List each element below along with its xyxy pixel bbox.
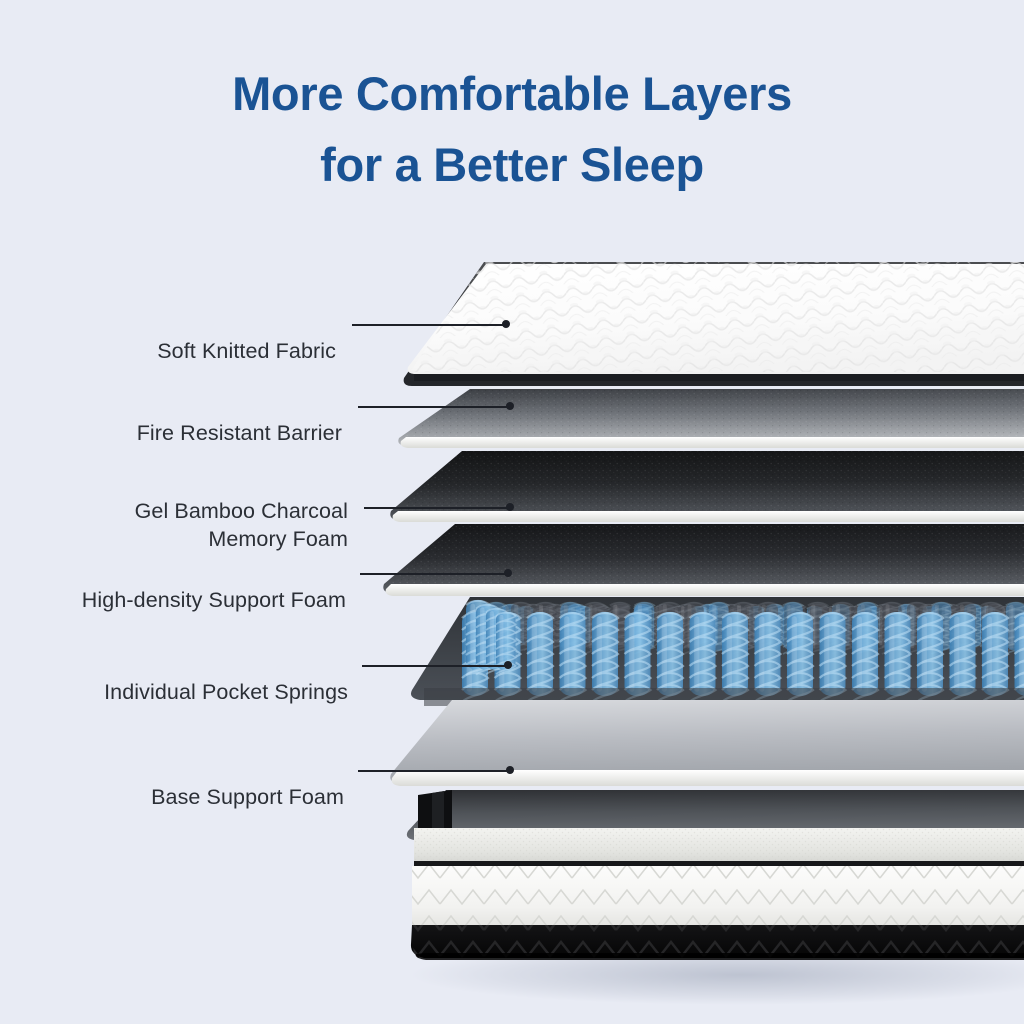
leader-dot-individual-pocket-springs bbox=[504, 661, 512, 669]
label-text-gel-bamboo-charcoal-memory-foam: Gel Bamboo Charcoal Memory Foam bbox=[0, 498, 348, 554]
label-text-high-density-support-foam: High-density Support Foam bbox=[0, 587, 346, 615]
mattress-body bbox=[407, 790, 1024, 962]
layer-soft-knitted-fabric bbox=[390, 258, 1024, 386]
label-text-soft-knitted-fabric: Soft Knitted Fabric bbox=[0, 338, 336, 366]
layer-individual-pocket-springs bbox=[411, 597, 1024, 706]
leader-line-high-density-support-foam bbox=[360, 573, 508, 575]
leader-line-base-support-foam bbox=[358, 770, 510, 772]
leader-line-individual-pocket-springs bbox=[362, 665, 508, 667]
leader-dot-soft-knitted-fabric bbox=[502, 320, 510, 328]
label-text-fire-resistant-barrier: Fire Resistant Barrier bbox=[0, 420, 342, 448]
layer-base-support-foam bbox=[390, 700, 1024, 786]
page-title: More Comfortable Layers for a Better Sle… bbox=[0, 58, 1024, 201]
layer-fire-resistant-barrier bbox=[390, 385, 1024, 448]
layer-high-density-support-foam bbox=[378, 520, 1024, 596]
leader-dot-gel-bamboo-charcoal-memory-foam bbox=[506, 503, 514, 511]
label-soft-knitted-fabric: Soft Knitted Fabric bbox=[0, 310, 336, 394]
leader-line-gel-bamboo-charcoal-memory-foam bbox=[364, 507, 510, 509]
layer-gel-bamboo-charcoal-memory-foam bbox=[385, 447, 1024, 522]
leader-dot-fire-resistant-barrier bbox=[506, 402, 514, 410]
label-individual-pocket-springs: Individual Pocket Springs bbox=[0, 651, 348, 735]
label-text-base-support-foam: Base Support Foam bbox=[0, 784, 344, 812]
label-high-density-support-foam: High-density Support Foam bbox=[0, 559, 346, 643]
infographic-canvas: More Comfortable Layers for a Better Sle… bbox=[0, 0, 1024, 1024]
label-fire-resistant-barrier: Fire Resistant Barrier bbox=[0, 392, 342, 476]
label-text-individual-pocket-springs: Individual Pocket Springs bbox=[0, 679, 348, 707]
leader-line-soft-knitted-fabric bbox=[352, 324, 506, 326]
leader-dot-base-support-foam bbox=[506, 766, 514, 774]
leader-line-fire-resistant-barrier bbox=[358, 406, 510, 408]
leader-dot-high-density-support-foam bbox=[504, 569, 512, 577]
label-base-support-foam: Base Support Foam bbox=[0, 756, 344, 840]
